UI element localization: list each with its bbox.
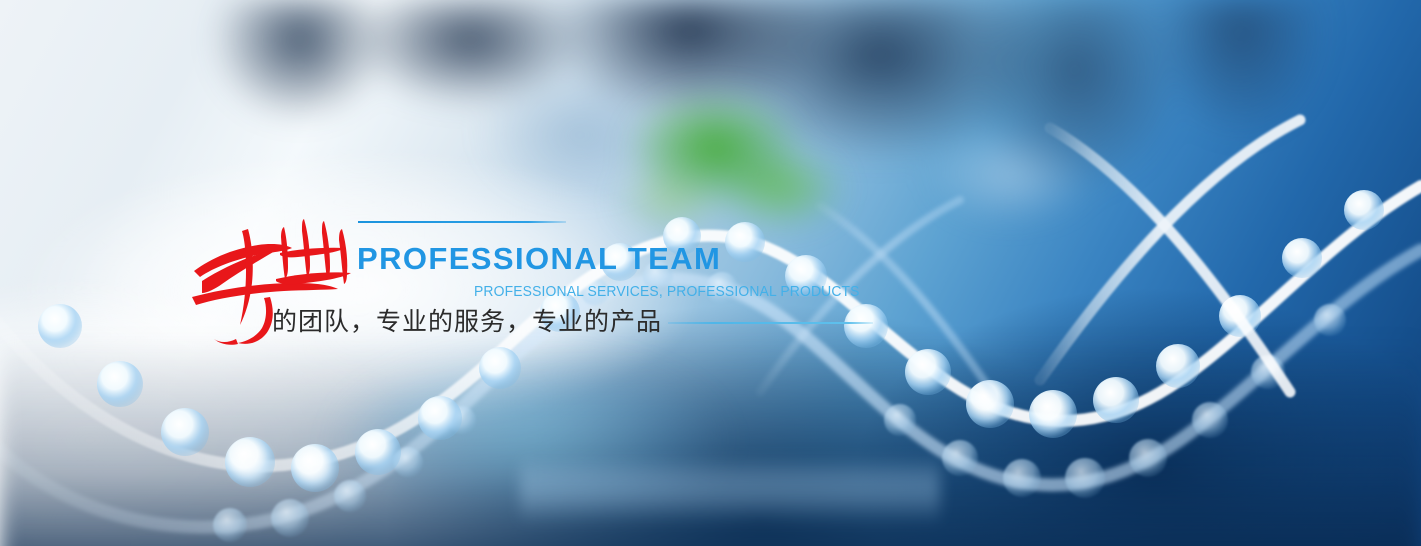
banner-headline: PROFESSIONAL TEAM: [357, 243, 721, 274]
decorative-rule-top: [358, 221, 566, 223]
banner-subline: PROFESSIONAL SERVICES, PROFESSIONAL PROD…: [474, 285, 860, 300]
hero-banner: PROFESSIONAL TEAM PROFESSIONAL SERVICES,…: [0, 0, 1421, 546]
banner-chinese-tagline: 的团队，专业的服务，专业的产品: [272, 306, 662, 337]
decorative-rule-bottom: [668, 322, 873, 324]
